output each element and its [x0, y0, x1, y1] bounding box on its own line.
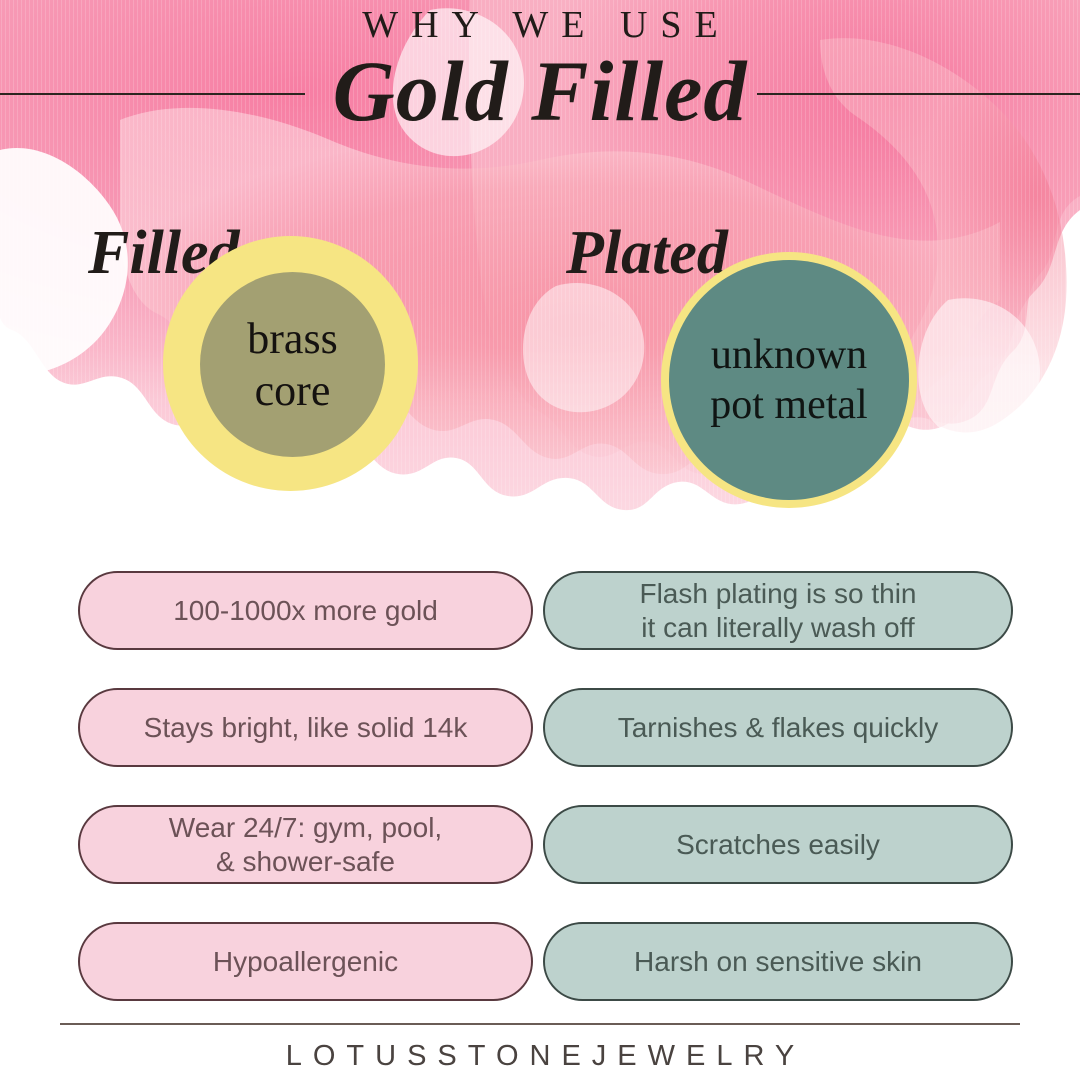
plated-drawback-pill: Scratches easily	[543, 805, 1013, 884]
plated-core-line1: unknown	[711, 332, 867, 378]
filled-benefit-line1: Stays bright, like solid 14k	[144, 712, 468, 743]
plated-core-line2: pot metal	[710, 382, 867, 428]
plated-drawback-line1: Flash plating is so thin	[639, 578, 916, 609]
filled-core-text: brass core	[247, 313, 337, 417]
plated-drawback-text: Harsh on sensitive skin	[634, 945, 922, 978]
filled-core-line2: core	[255, 366, 331, 415]
infographic-poster: WHY WE USE Gold Filled Filled brass core…	[0, 0, 1080, 1080]
page-title: Gold Filled	[0, 42, 1080, 141]
filled-benefit-line1: Hypoallergenic	[213, 946, 398, 977]
filled-core-circle: brass core	[200, 272, 385, 457]
plated-drawback-line2: it can literally wash off	[641, 612, 914, 643]
brand-name: LOTUSSTONEJEWELRY	[0, 1040, 1080, 1073]
filled-core-line1: brass	[247, 314, 337, 363]
comparison-row: Hypoallergenic Harsh on sensitive skin	[0, 922, 1080, 1001]
diagram-label-plated: Plated	[566, 222, 728, 284]
plated-drawback-text: Tarnishes & flakes quickly	[618, 711, 939, 744]
plated-drawback-line1: Tarnishes & flakes quickly	[618, 712, 939, 743]
comparison-grid: 100-1000x more gold Flash plating is so …	[0, 571, 1080, 1039]
filled-benefit-line1: Wear 24/7: gym, pool,	[169, 812, 442, 843]
plated-drawback-text: Scratches easily	[676, 828, 880, 861]
plated-drawback-pill: Harsh on sensitive skin	[543, 922, 1013, 1001]
plated-core-text: unknown pot metal	[710, 330, 867, 431]
plated-drawback-pill: Tarnishes & flakes quickly	[543, 688, 1013, 767]
filled-benefit-text: Wear 24/7: gym, pool, & shower-safe	[169, 811, 442, 877]
filled-benefit-line2: & shower-safe	[216, 846, 395, 877]
filled-benefit-text: Hypoallergenic	[213, 945, 398, 978]
plated-drawback-text: Flash plating is so thin it can literall…	[639, 577, 916, 643]
plated-core-circle: unknown pot metal	[669, 260, 909, 500]
filled-benefit-pill: Hypoallergenic	[78, 922, 533, 1001]
filled-benefit-line1: 100-1000x more gold	[173, 595, 438, 626]
filled-benefit-text: 100-1000x more gold	[173, 594, 438, 627]
comparison-row: 100-1000x more gold Flash plating is so …	[0, 571, 1080, 650]
filled-benefit-pill: Stays bright, like solid 14k	[78, 688, 533, 767]
comparison-row: Wear 24/7: gym, pool, & shower-safe Scra…	[0, 805, 1080, 884]
footer-rule	[60, 1023, 1020, 1025]
plated-drawback-line1: Harsh on sensitive skin	[634, 946, 922, 977]
filled-benefit-pill: 100-1000x more gold	[78, 571, 533, 650]
plated-drawback-line1: Scratches easily	[676, 829, 880, 860]
plated-drawback-pill: Flash plating is so thin it can literall…	[543, 571, 1013, 650]
filled-benefit-pill: Wear 24/7: gym, pool, & shower-safe	[78, 805, 533, 884]
filled-benefit-text: Stays bright, like solid 14k	[144, 711, 468, 744]
comparison-row: Stays bright, like solid 14k Tarnishes &…	[0, 688, 1080, 767]
